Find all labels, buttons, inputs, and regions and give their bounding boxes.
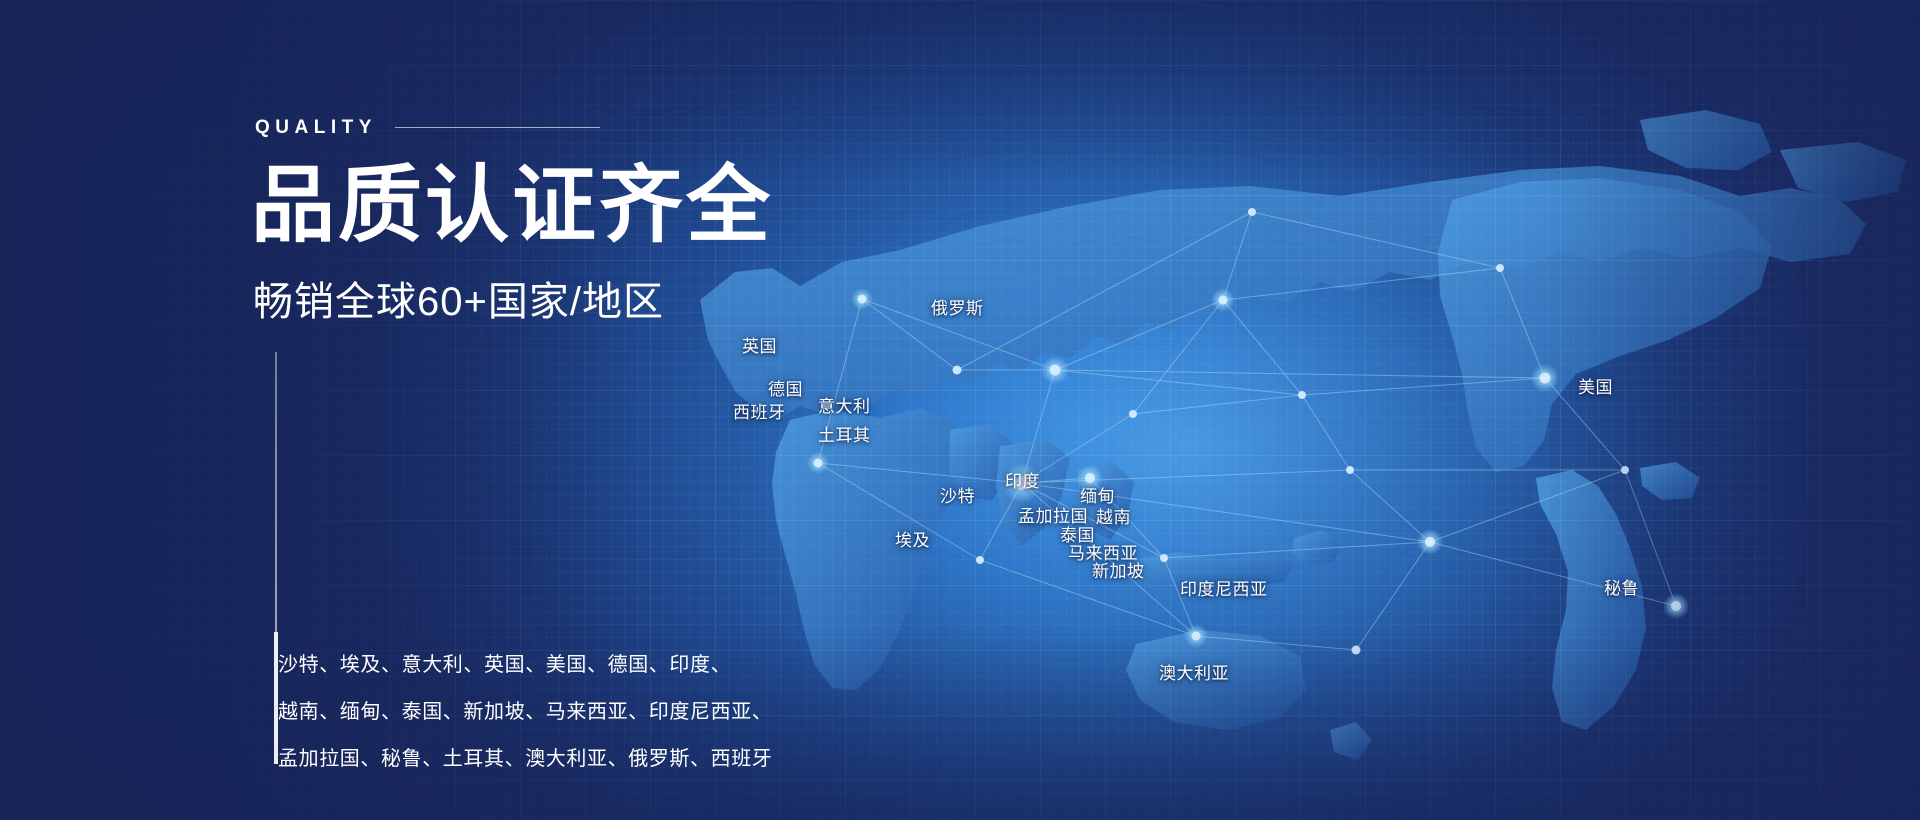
country-list-line: 沙特、埃及、意大利、英国、美国、德国、印度、 — [278, 642, 772, 689]
map-label-india: 印度 — [1005, 467, 1040, 492]
vertical-divider-thin — [275, 352, 277, 632]
map-label-egypt: 埃及 — [895, 526, 930, 551]
page-title: 品质认证齐全 — [251, 160, 773, 251]
map-label-italy: 意大利 — [818, 392, 871, 417]
headline-block: QUALITY 品质认证齐全 畅销全球60+国家/地区 沙特、埃及、意大利、英国… — [0, 0, 780, 820]
map-label-usa: 美国 — [1578, 373, 1613, 398]
map-label-vietnam: 越南 — [1096, 503, 1131, 528]
country-list-line: 孟加拉国、秘鲁、土耳其、澳大利亚、俄罗斯、西班牙 — [278, 736, 772, 783]
map-label-saudi: 沙特 — [940, 482, 975, 507]
country-list: 沙特、埃及、意大利、英国、美国、德国、印度、越南、缅甸、泰国、新加坡、马来西亚、… — [278, 642, 772, 783]
eyebrow-row: QUALITY — [255, 118, 600, 137]
eyebrow-label: QUALITY — [255, 118, 377, 137]
map-label-turkey: 土耳其 — [818, 421, 871, 446]
map-label-indonesia: 印度尼西亚 — [1180, 575, 1268, 600]
map-label-russia: 俄罗斯 — [931, 294, 984, 319]
map-label-peru: 秘鲁 — [1604, 574, 1639, 599]
country-list-line: 越南、缅甸、泰国、新加坡、马来西亚、印度尼西亚、 — [278, 689, 772, 736]
map-label-australia: 澳大利亚 — [1159, 659, 1229, 684]
banner-stage: 英国德国西班牙意大利土耳其俄罗斯沙特埃及印度缅甸孟加拉国越南泰国马来西亚新加坡印… — [0, 0, 1920, 820]
eyebrow-rule — [395, 127, 600, 128]
map-label-singapore: 新加坡 — [1092, 557, 1145, 582]
page-subtitle: 畅销全球60+国家/地区 — [253, 278, 664, 326]
